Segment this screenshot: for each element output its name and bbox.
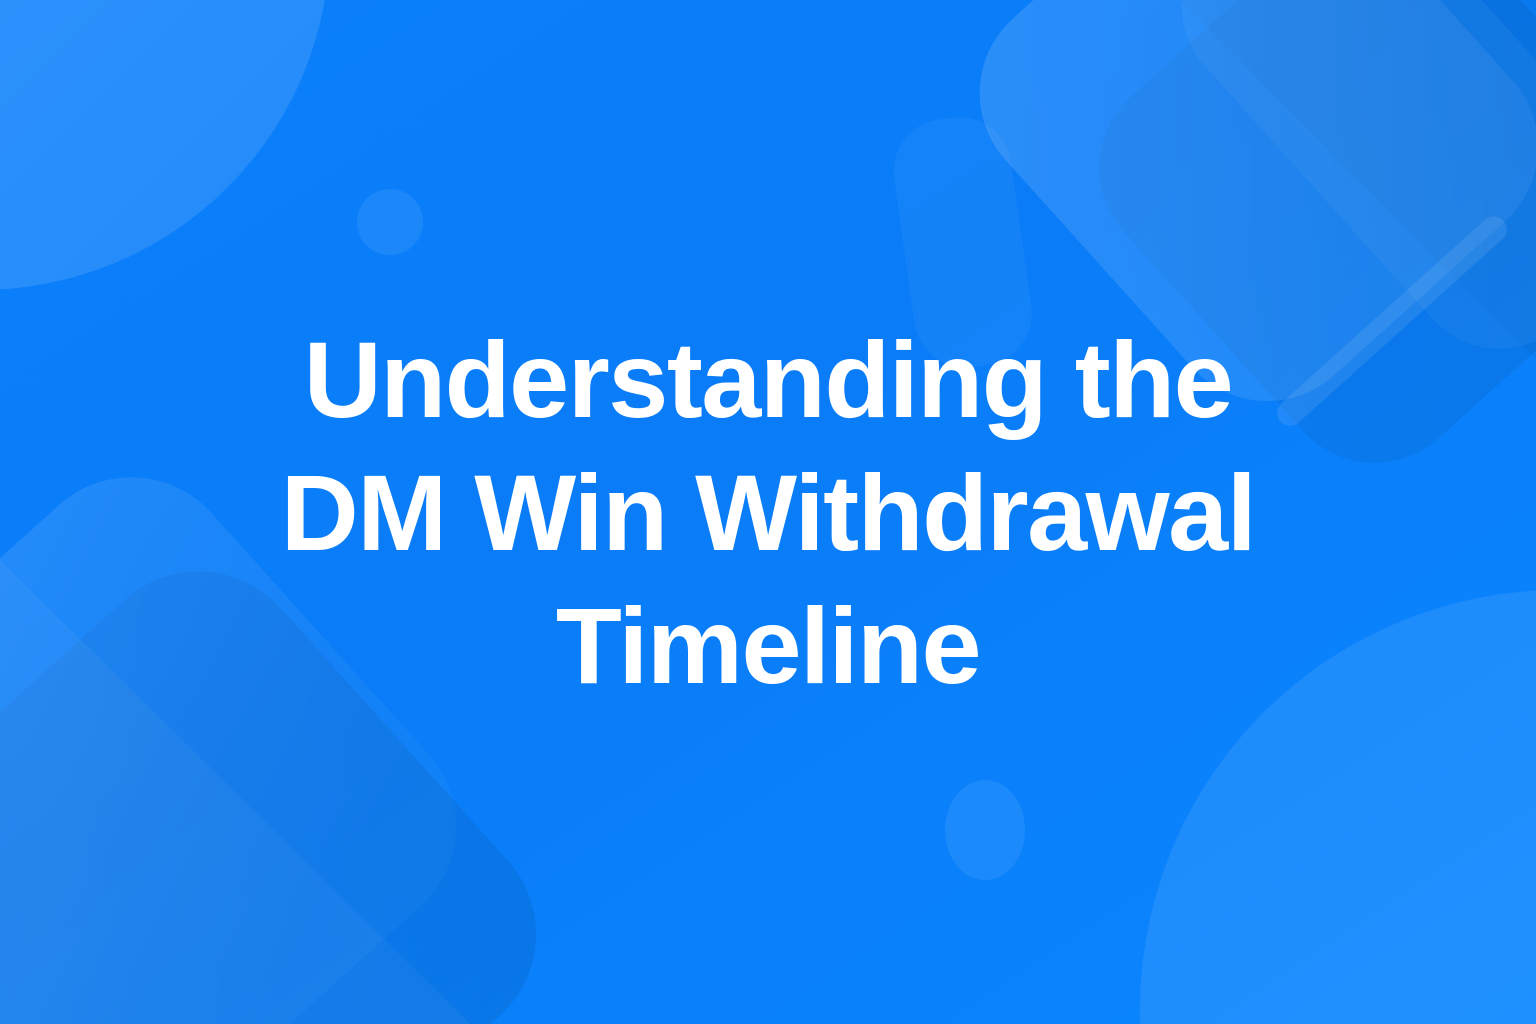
page-title: Understanding the DM Win Withdrawal Time… bbox=[281, 313, 1256, 712]
page-title-line-3: Timeline bbox=[281, 579, 1256, 712]
hero-banner: Understanding the DM Win Withdrawal Time… bbox=[0, 0, 1536, 1024]
page-title-line-1: Understanding the bbox=[281, 313, 1256, 446]
page-title-line-2: DM Win Withdrawal bbox=[281, 446, 1256, 579]
title-block: Understanding the DM Win Withdrawal Time… bbox=[0, 0, 1536, 1024]
